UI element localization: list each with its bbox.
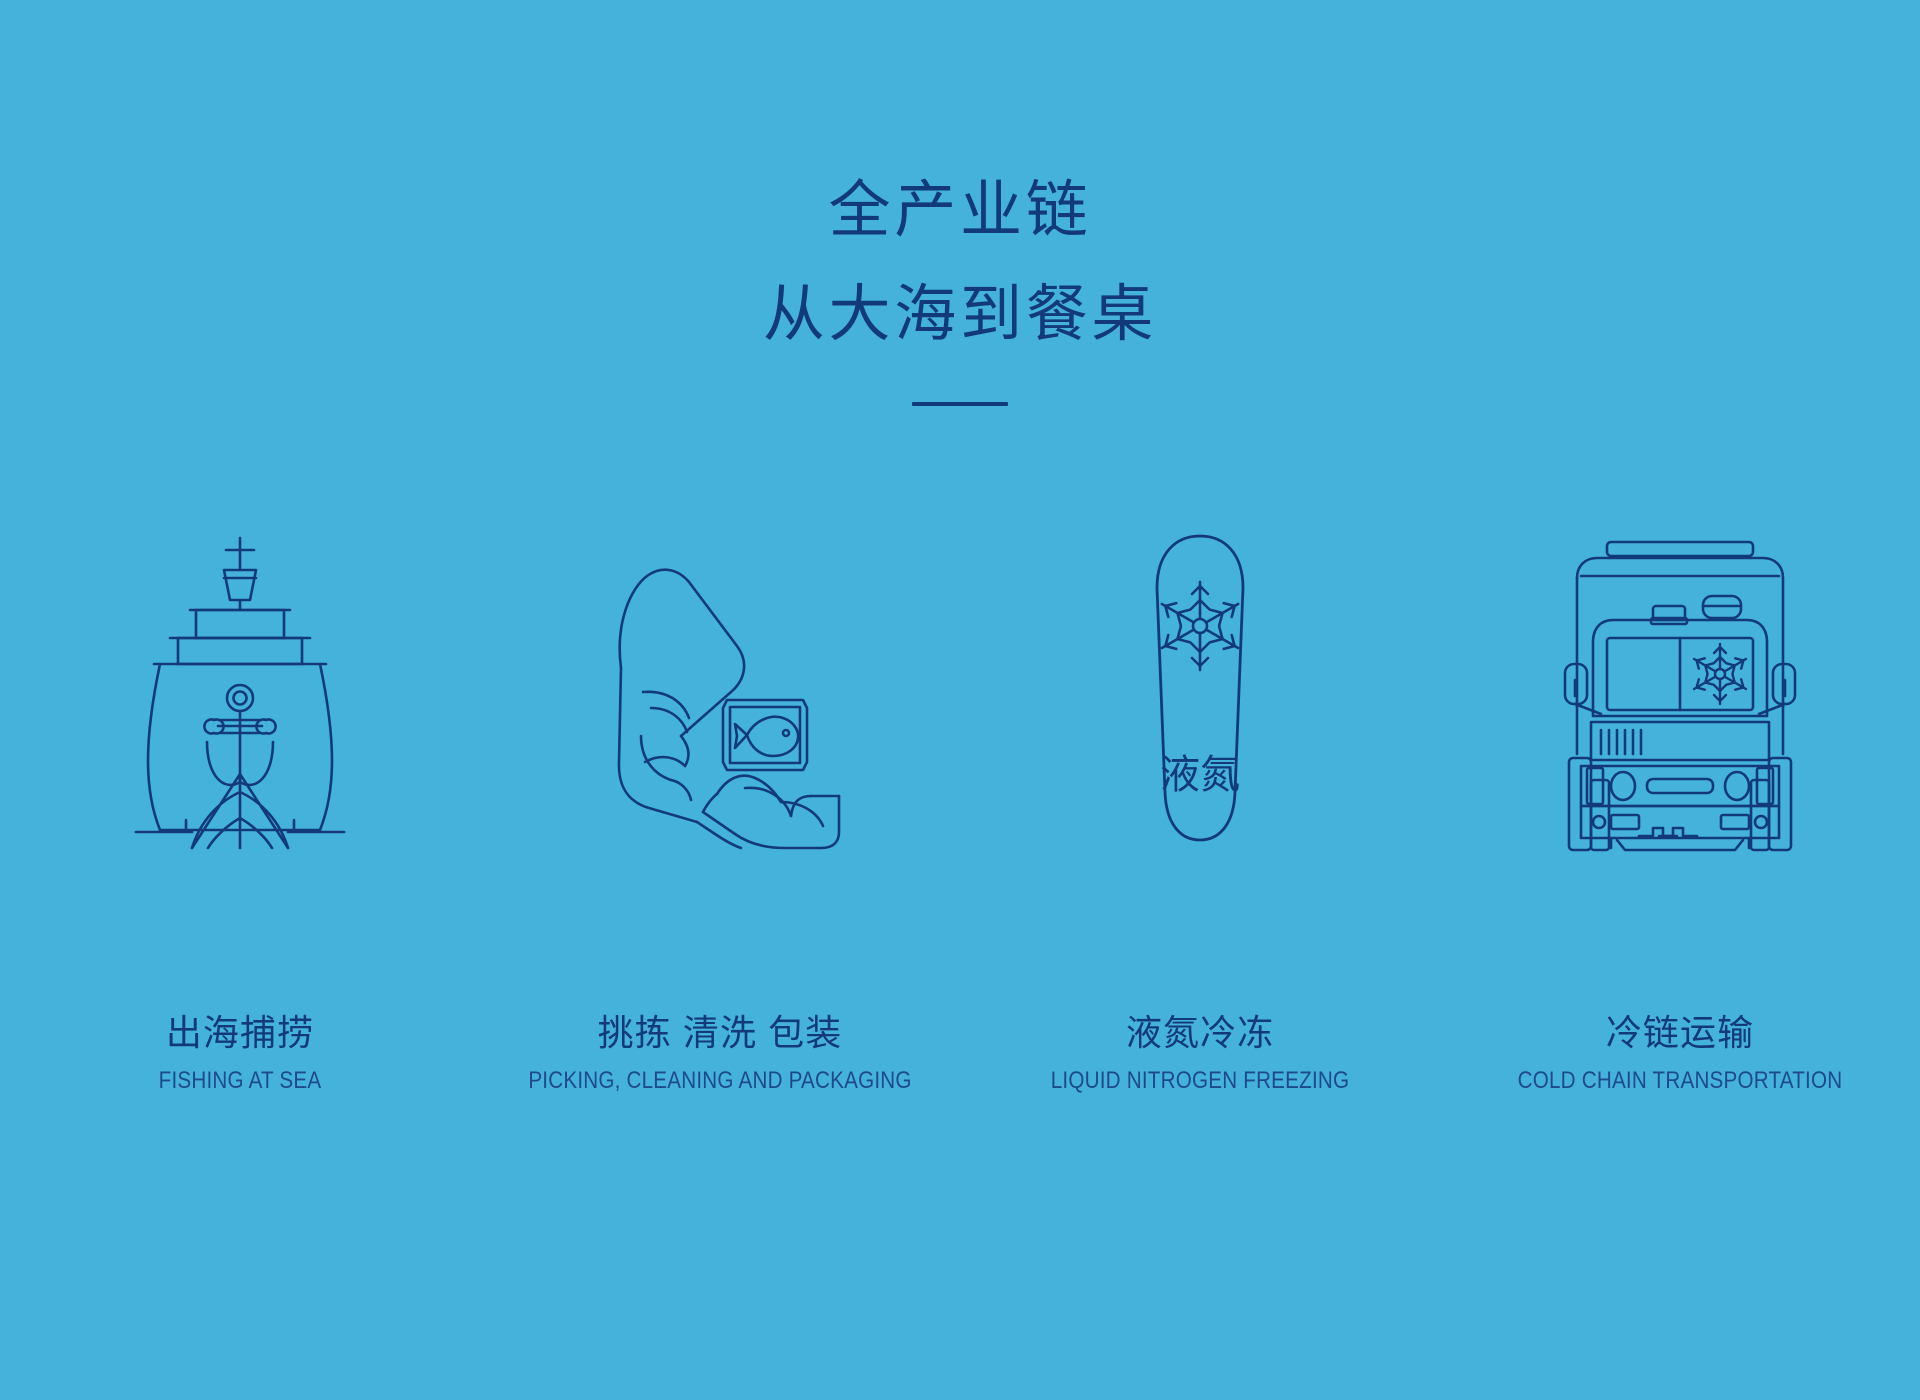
refrigerated-truck-icon xyxy=(1555,530,1805,850)
page-root: 全产业链 从大海到餐桌 xyxy=(0,0,1920,1400)
label-cn-picking-cleaning-packaging: 挑拣 清洗 包装 xyxy=(480,1010,960,1055)
step-cold-chain-transportation[interactable] xyxy=(1440,520,1920,850)
icon-container-truck xyxy=(1555,520,1805,850)
icon-container-tank: 液氮 xyxy=(1135,520,1265,850)
fishing-boat-icon xyxy=(130,530,350,850)
icon-container-hands xyxy=(585,520,855,850)
label-cn-liquid-nitrogen-freezing: 液氮冷冻 xyxy=(960,1010,1440,1055)
label-en-liquid-nitrogen-freezing: LIQUID NITROGEN FREEZING xyxy=(994,1067,1407,1095)
step-fishing-at-sea[interactable] xyxy=(0,520,480,850)
page-header: 全产业链 从大海到餐桌 xyxy=(0,180,1920,406)
step-picking-cleaning-packaging[interactable] xyxy=(480,520,960,850)
icon-container-boat xyxy=(130,520,350,850)
step-liquid-nitrogen-freezing[interactable]: 液氮 xyxy=(960,520,1440,850)
process-steps-row: 液氮 xyxy=(0,520,1920,850)
tank-label-text: 液氮 xyxy=(1160,753,1240,797)
process-labels-row: 出海捕捞 FISHING AT SEA 挑拣 清洗 包装 PICKING, CL… xyxy=(0,1010,1920,1095)
hands-fish-package-icon xyxy=(585,550,855,850)
label-en-fishing-at-sea: FISHING AT SEA xyxy=(34,1067,447,1095)
label-block-cold-chain-transportation: 冷链运输 COLD CHAIN TRANSPORTATION xyxy=(1440,1010,1920,1095)
label-en-picking-cleaning-packaging: PICKING, CLEANING AND PACKAGING xyxy=(514,1067,927,1095)
label-block-fishing-at-sea: 出海捕捞 FISHING AT SEA xyxy=(0,1010,480,1095)
label-cn-fishing-at-sea: 出海捕捞 xyxy=(0,1010,480,1055)
label-block-liquid-nitrogen-freezing: 液氮冷冻 LIQUID NITROGEN FREEZING xyxy=(960,1010,1440,1095)
label-block-picking-cleaning-packaging: 挑拣 清洗 包装 PICKING, CLEANING AND PACKAGING xyxy=(480,1010,960,1095)
page-title-primary: 全产业链 xyxy=(0,180,1920,242)
label-cn-cold-chain-transportation: 冷链运输 xyxy=(1440,1010,1920,1055)
label-en-cold-chain-transportation: COLD CHAIN TRANSPORTATION xyxy=(1474,1067,1887,1095)
liquid-nitrogen-tank-icon: 液氮 xyxy=(1135,530,1265,850)
page-title-secondary: 从大海到餐桌 xyxy=(0,284,1920,346)
title-divider xyxy=(912,402,1008,406)
